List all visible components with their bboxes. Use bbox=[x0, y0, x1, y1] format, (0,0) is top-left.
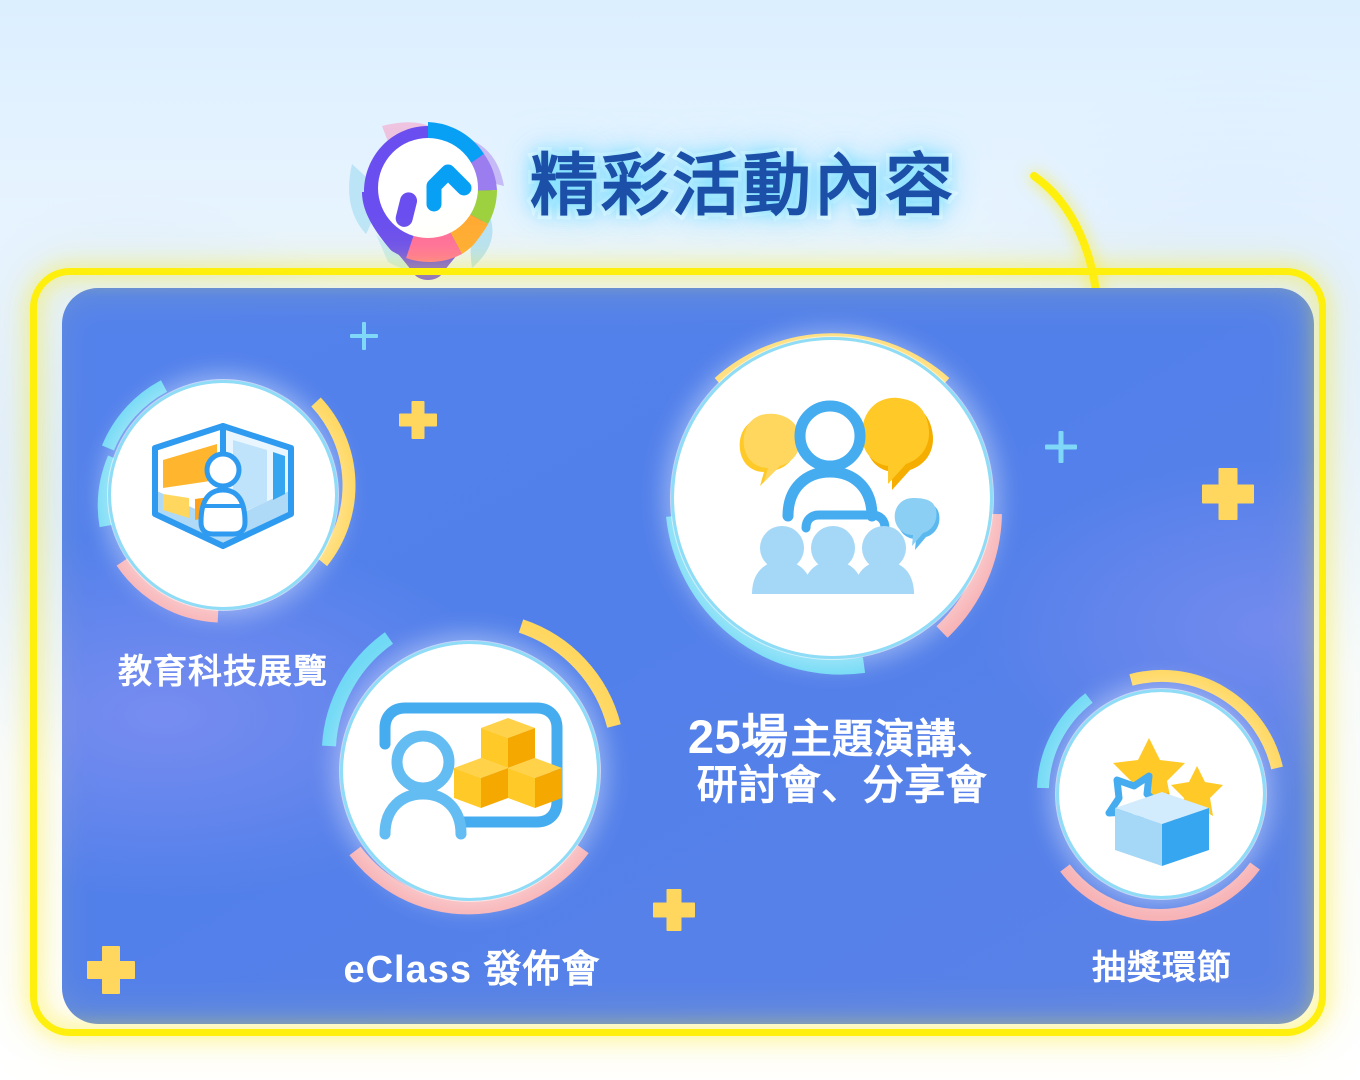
brand-pin-logo-icon bbox=[336, 112, 521, 292]
infographic-canvas: 精彩活動內容 bbox=[0, 0, 1360, 1080]
page-title: 精彩活動內容 bbox=[530, 130, 956, 229]
title-block: 精彩活動內容 bbox=[330, 108, 1010, 288]
yellow-neon-frame bbox=[30, 268, 1326, 1036]
